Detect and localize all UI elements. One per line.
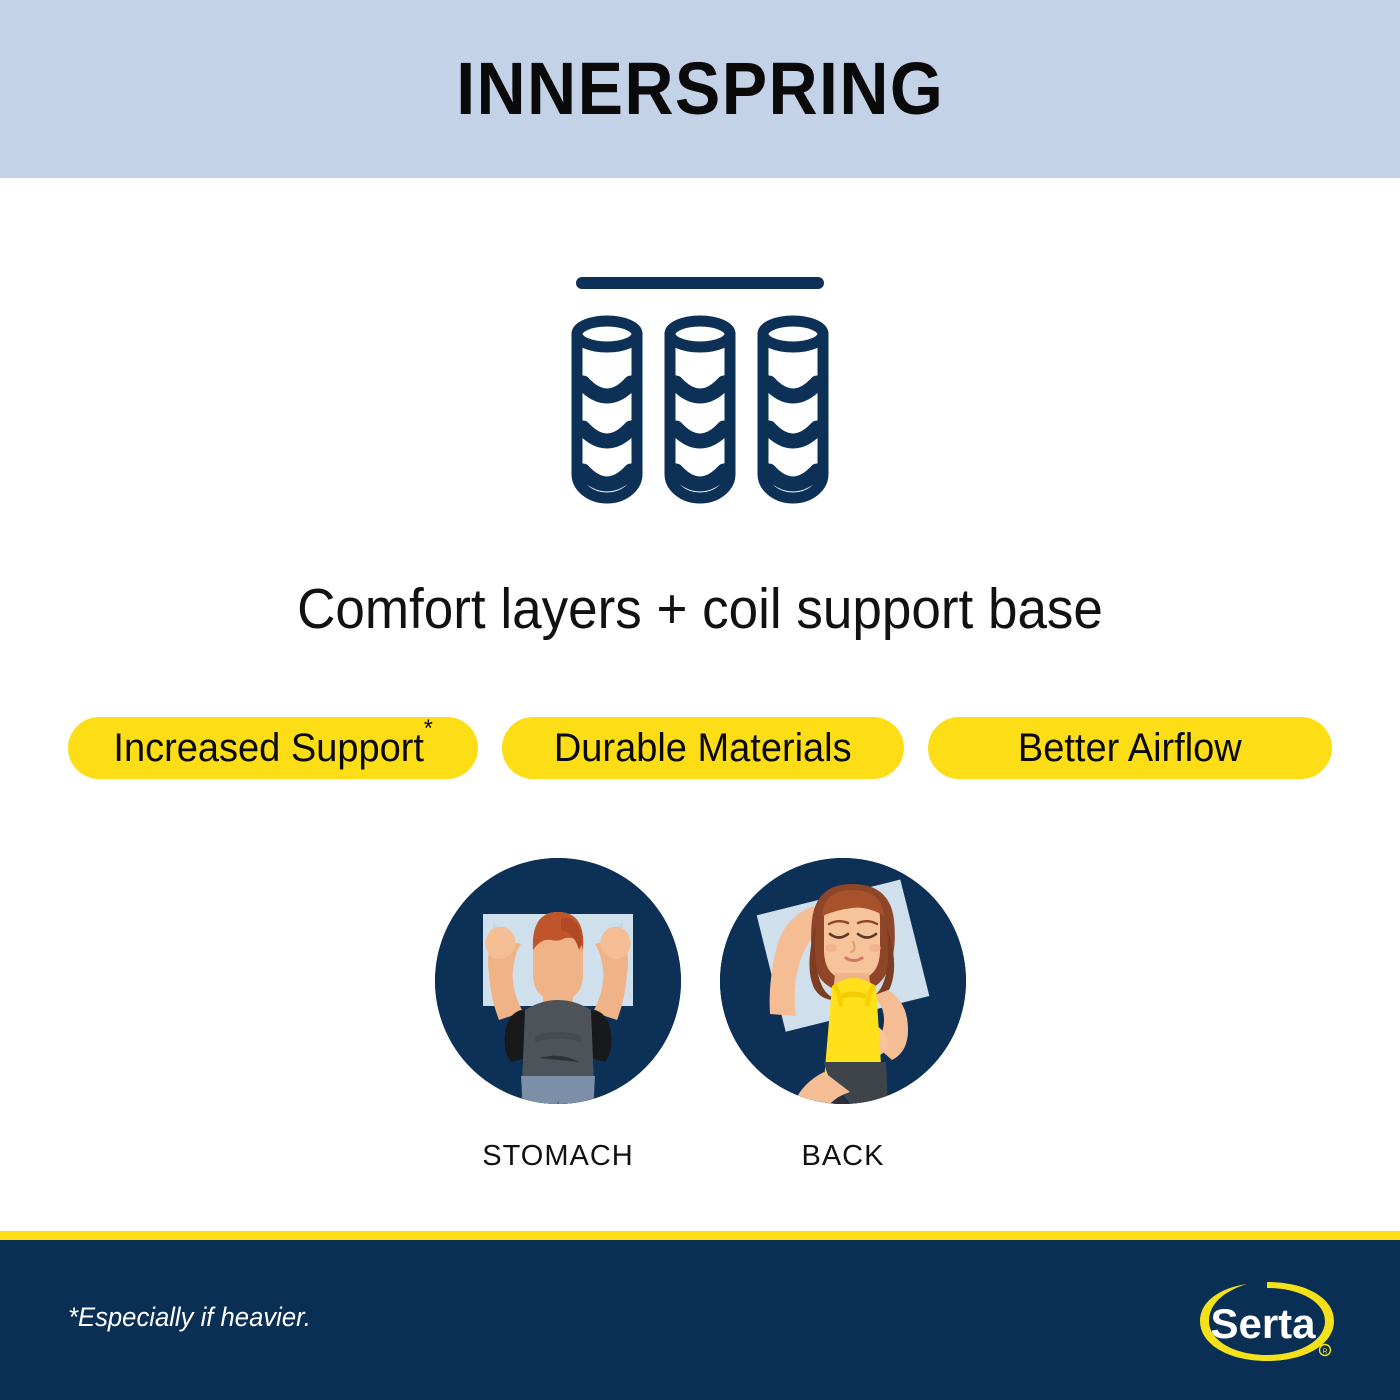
innerspring-coils-icon bbox=[550, 250, 850, 530]
feature-pill-increased-support[interactable]: Increased Support* bbox=[68, 717, 478, 779]
svg-text:R: R bbox=[1322, 1349, 1327, 1356]
sleep-position-label: STOMACH bbox=[433, 1140, 683, 1173]
sleep-position-label: BACK bbox=[718, 1140, 968, 1173]
feature-pill-label: Durable Materials bbox=[554, 726, 852, 770]
feature-pill-label: Better Airflow bbox=[1018, 726, 1242, 770]
page-footer: *Especially if heavier. Serta R bbox=[0, 1240, 1400, 1400]
back-sleeper-illustration bbox=[720, 858, 966, 1104]
sleep-positions-section: STOMACH bbox=[0, 858, 1400, 1178]
page-header: INNERSPRING bbox=[0, 0, 1400, 178]
innerspring-icon-container bbox=[0, 250, 1400, 530]
stomach-sleeper-illustration bbox=[435, 858, 681, 1104]
feature-pill-better-airflow[interactable]: Better Airflow bbox=[928, 717, 1332, 779]
serta-logo-text: Serta bbox=[1210, 1300, 1316, 1347]
page-title: INNERSPRING bbox=[456, 52, 944, 126]
sleep-position-back: BACK bbox=[718, 858, 968, 1173]
sleep-position-stomach: STOMACH bbox=[433, 858, 683, 1173]
footer-accent-stripe bbox=[0, 1231, 1400, 1240]
feature-pill-durable-materials[interactable]: Durable Materials bbox=[502, 717, 904, 779]
serta-logo[interactable]: Serta R bbox=[1192, 1276, 1342, 1368]
footnote-marker: * bbox=[424, 715, 433, 742]
footnote-text: *Especially if heavier. bbox=[68, 1302, 311, 1333]
feature-pill-row: Increased Support* Durable Materials Bet… bbox=[68, 717, 1332, 779]
feature-pill-label: Increased Support bbox=[113, 726, 424, 770]
subtitle: Comfort layers + coil support base bbox=[49, 578, 1351, 641]
